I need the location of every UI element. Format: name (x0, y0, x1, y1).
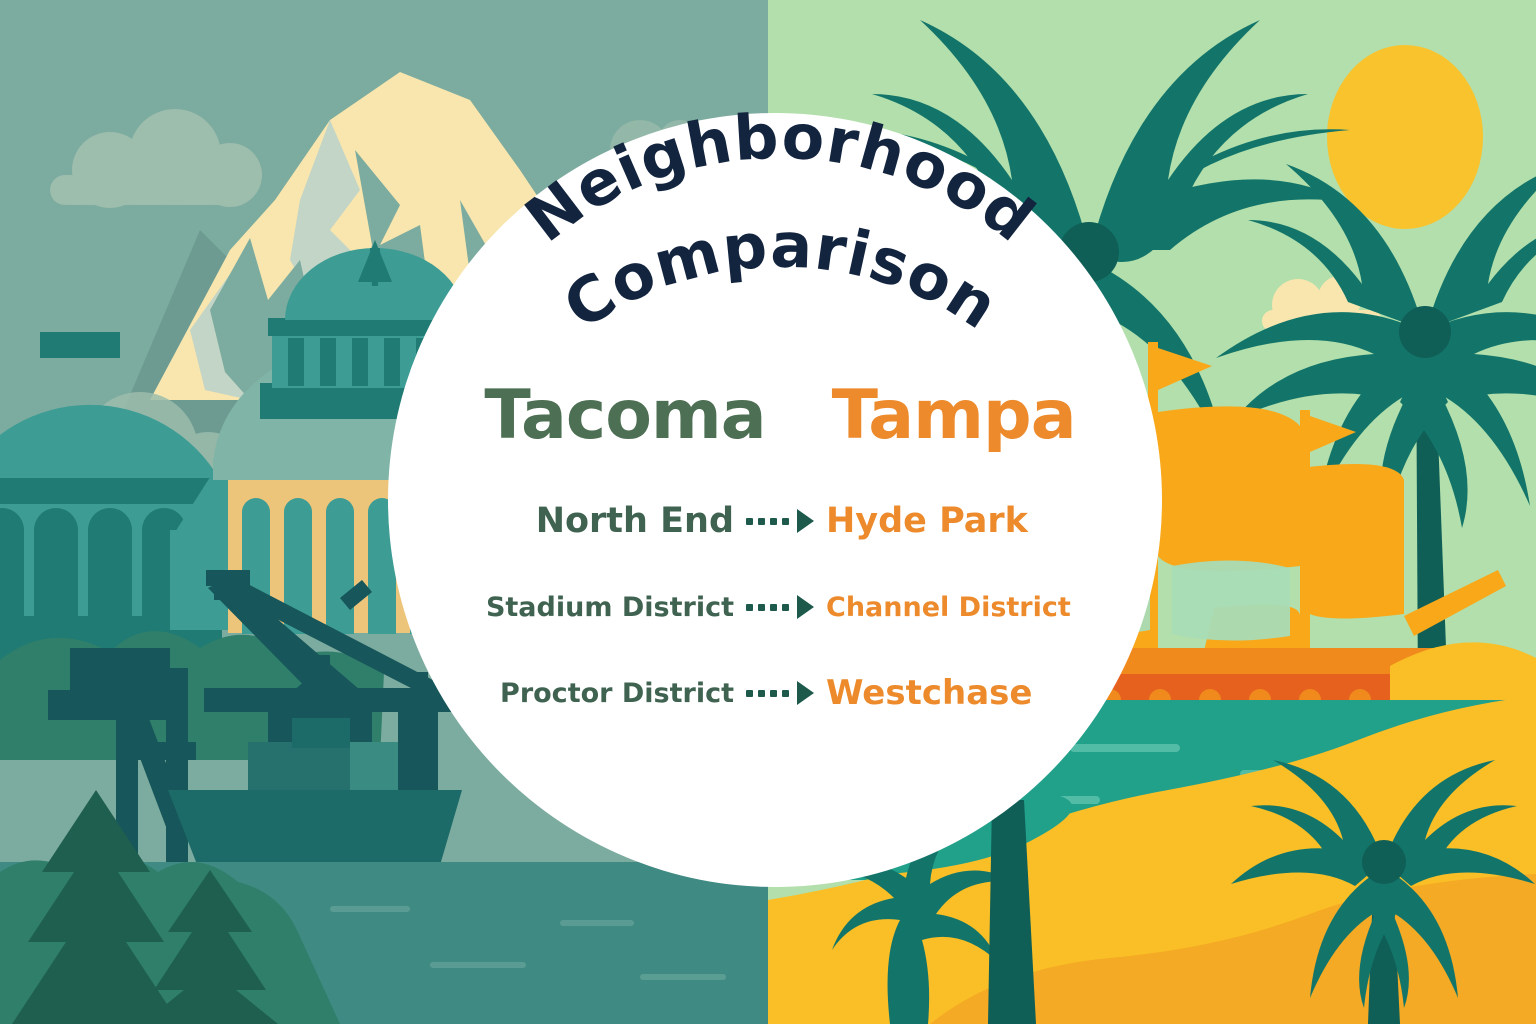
sun-icon (1327, 45, 1483, 229)
center-circle-panel (388, 113, 1162, 887)
background-illustration (0, 0, 1536, 1024)
infographic-canvas: Neighborhood Comparison Tacoma Tampa Nor… (0, 0, 1536, 1024)
